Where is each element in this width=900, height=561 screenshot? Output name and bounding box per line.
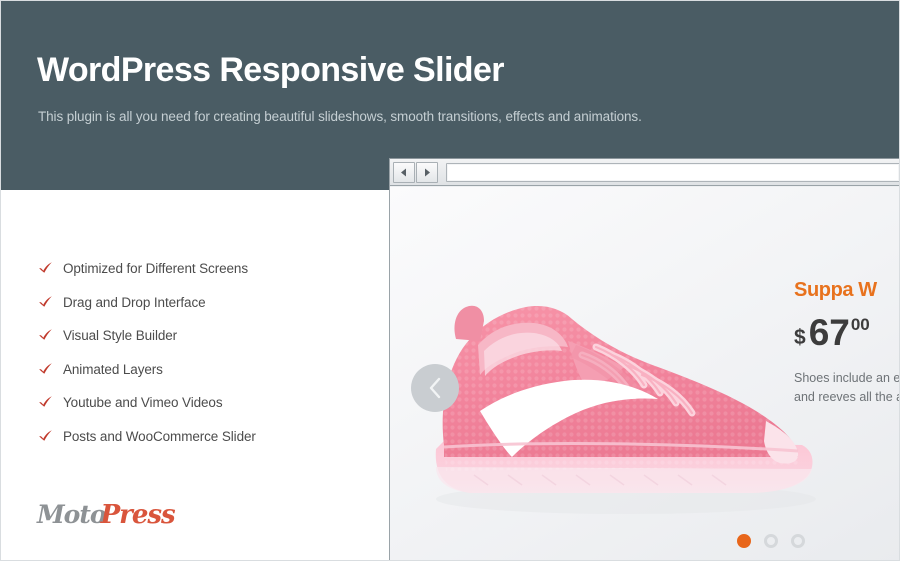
list-item: Visual Style Builder bbox=[37, 319, 256, 353]
product-description-line1: Shoes include an eх bbox=[794, 369, 900, 388]
feature-label: Visual Style Builder bbox=[63, 328, 177, 343]
slider-prev-button[interactable] bbox=[411, 364, 459, 412]
feature-label: Drag and Drop Interface bbox=[63, 295, 206, 310]
list-item: Animated Layers bbox=[37, 353, 256, 387]
slider-stage: Suppa W $ 67 00 Shoes include an eх and … bbox=[390, 187, 900, 561]
browser-forward-button[interactable] bbox=[416, 162, 438, 183]
slider-dot-1[interactable] bbox=[737, 534, 751, 548]
price-cents: 00 bbox=[851, 316, 870, 333]
browser-toolbar bbox=[390, 159, 900, 186]
slider-dot-2[interactable] bbox=[764, 534, 778, 548]
check-icon bbox=[37, 428, 54, 445]
address-bar-input[interactable] bbox=[446, 163, 900, 182]
feature-label: Youtube and Vimeo Videos bbox=[63, 395, 223, 410]
triangle-left-icon bbox=[400, 168, 408, 177]
page-subtitle: This plugin is all you need for creating… bbox=[38, 109, 642, 124]
price-currency: $ bbox=[794, 327, 806, 348]
product-price: $ 67 00 bbox=[794, 314, 900, 351]
list-item: Posts and WooCommerce Slider bbox=[37, 420, 256, 454]
feature-label: Animated Layers bbox=[63, 362, 163, 377]
product-title: Suppa W bbox=[794, 279, 900, 302]
check-icon bbox=[37, 260, 54, 277]
chevron-left-icon bbox=[427, 377, 443, 399]
list-item: Optimized for Different Screens bbox=[37, 252, 256, 286]
feature-label: Optimized for Different Screens bbox=[63, 261, 248, 276]
feature-panel: Optimized for Different Screens Drag and… bbox=[1, 190, 391, 561]
triangle-right-icon bbox=[423, 168, 431, 177]
slider-pagination bbox=[737, 534, 805, 548]
browser-window: Suppa W $ 67 00 Shoes include an eх and … bbox=[389, 158, 900, 561]
feature-label: Posts and WooCommerce Slider bbox=[63, 429, 256, 444]
product-info: Suppa W $ 67 00 Shoes include an eх and … bbox=[794, 279, 900, 407]
list-item: Youtube and Vimeo Videos bbox=[37, 386, 256, 420]
slider-dot-3[interactable] bbox=[791, 534, 805, 548]
product-image-sneaker bbox=[400, 235, 860, 535]
check-icon bbox=[37, 327, 54, 344]
logo-text-moto: Moto bbox=[37, 500, 106, 529]
motopress-logo: Moto Press bbox=[37, 500, 175, 534]
promo-banner: WordPress Responsive Slider This plugin … bbox=[0, 0, 900, 561]
check-icon bbox=[37, 394, 54, 411]
browser-back-button[interactable] bbox=[393, 162, 415, 183]
product-description-line2: and reeves all the a bbox=[794, 388, 900, 407]
list-item: Drag and Drop Interface bbox=[37, 286, 256, 320]
page-title: WordPress Responsive Slider bbox=[37, 51, 504, 90]
check-icon bbox=[37, 361, 54, 378]
price-amount: 67 bbox=[809, 314, 850, 351]
logo-text-press: Press bbox=[101, 500, 175, 530]
product-description: Shoes include an eх and reeves all the a bbox=[794, 369, 900, 407]
check-icon bbox=[37, 294, 54, 311]
feature-list: Optimized for Different Screens Drag and… bbox=[37, 252, 256, 453]
